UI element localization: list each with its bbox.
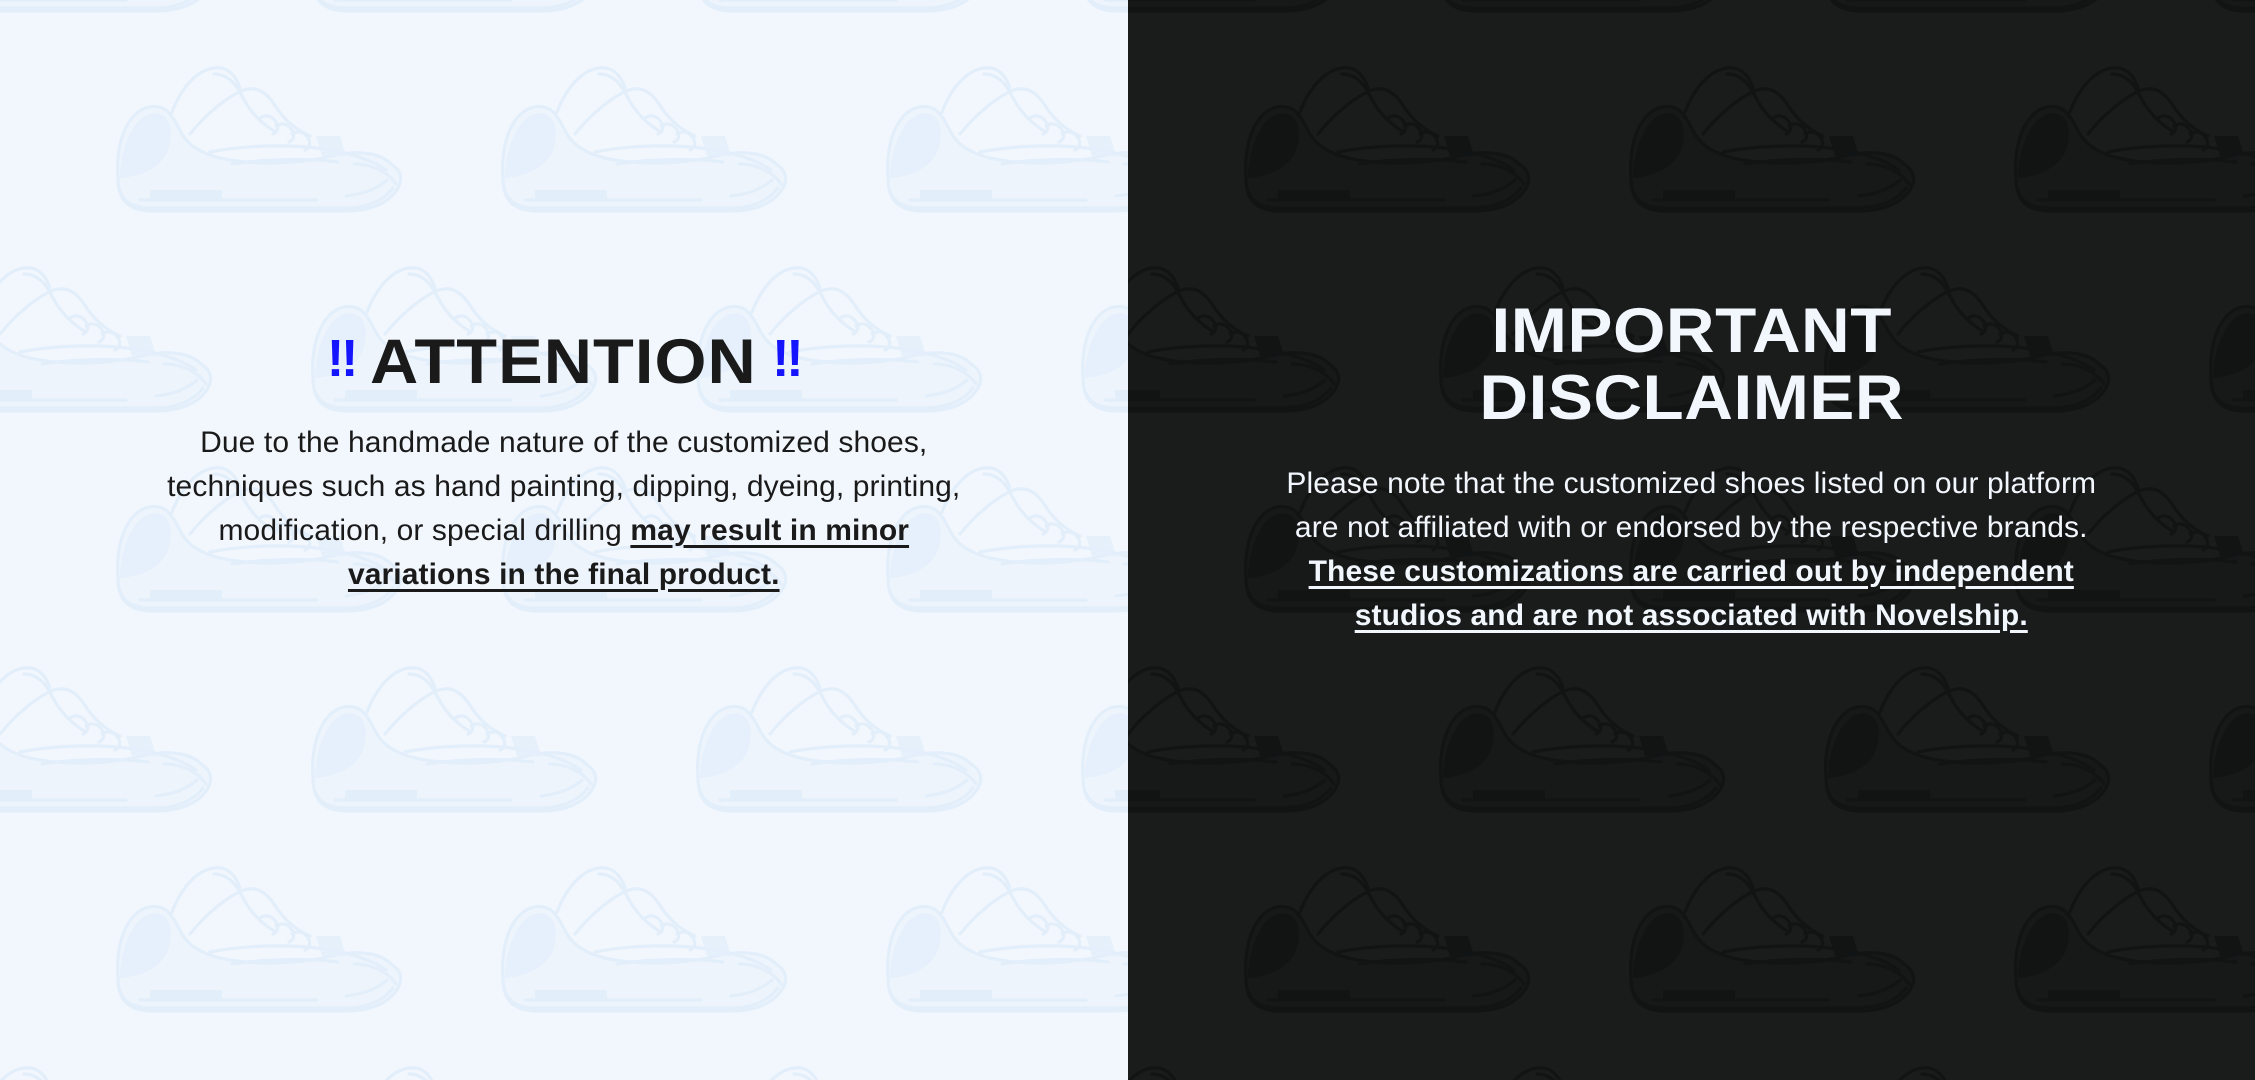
sneaker-icon (110, 830, 410, 1060)
sneaker-icon (2203, 630, 2255, 860)
sneaker-icon (1433, 630, 1733, 860)
disclaimer-body-plain: Please note that the customized shoes li… (1286, 467, 2096, 544)
sneaker-icon (690, 630, 990, 860)
sneaker-icon (1623, 830, 1923, 1060)
sneaker-icon (1433, 1030, 1733, 1080)
disclaimer-content: IMPORTANT DISCLAIMER Please note that th… (1128, 0, 2255, 638)
double-exclamation-icon-right: ‼ (772, 333, 800, 385)
sneaker-pattern-row (1128, 1030, 2255, 1080)
sneaker-pattern-row (0, 1030, 1128, 1080)
attention-body: Due to the handmade nature of the custom… (164, 421, 964, 597)
sneaker-icon (2203, 1030, 2255, 1080)
sneaker-pattern-row (1238, 830, 2255, 1060)
disclaimer-body: Please note that the customized shoes li… (1276, 462, 2106, 638)
disclaimer-heading: IMPORTANT DISCLAIMER (1128, 298, 2255, 432)
sneaker-icon (880, 830, 1128, 1060)
sneaker-icon (1818, 1030, 2118, 1080)
sneaker-icon (1075, 1030, 1128, 1080)
sneaker-icon (0, 1030, 220, 1080)
attention-panel: ‼ ATTENTION ‼ Due to the handmade nature… (0, 0, 1128, 1080)
sneaker-icon (2008, 830, 2255, 1060)
sneaker-pattern-row (110, 830, 1128, 1060)
disclaimer-panel: IMPORTANT DISCLAIMER Please note that th… (1128, 0, 2255, 1080)
sneaker-icon (1818, 630, 2118, 860)
sneaker-icon (1238, 830, 1538, 1060)
sneaker-pattern-row (0, 630, 1128, 860)
disclaimer-heading-line-2: DISCLAIMER (1128, 365, 2255, 432)
sneaker-icon (495, 830, 795, 1060)
sneaker-icon (305, 1030, 605, 1080)
sneaker-icon (305, 630, 605, 860)
attention-heading-text: ATTENTION (370, 330, 757, 394)
sneaker-icon (690, 1030, 990, 1080)
double-exclamation-icon-left: ‼ (327, 333, 355, 385)
disclaimer-body-emphasis: These customizations are carried out by … (1309, 555, 2074, 632)
attention-content: ‼ ATTENTION ‼ Due to the handmade nature… (0, 0, 1128, 597)
sneaker-icon (1128, 630, 1348, 860)
sneaker-icon (1075, 630, 1128, 860)
sneaker-pattern-row (1128, 630, 2255, 860)
sneaker-icon (0, 630, 220, 860)
disclaimer-banner: ‼ ATTENTION ‼ Due to the handmade nature… (0, 0, 2255, 1080)
attention-heading: ‼ ATTENTION ‼ (0, 330, 1128, 394)
disclaimer-heading-line-1: IMPORTANT (1128, 298, 2255, 365)
sneaker-icon (1128, 1030, 1348, 1080)
